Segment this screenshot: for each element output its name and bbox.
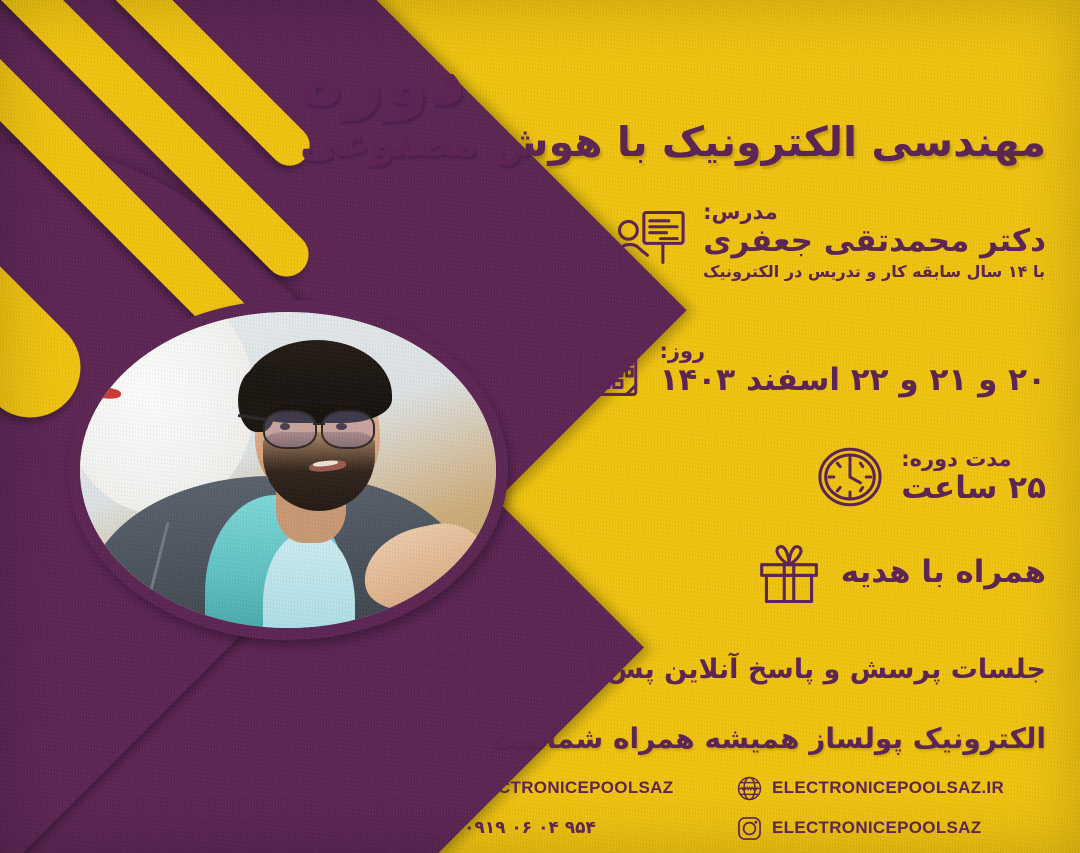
course-poster: دوره مهندسی الکترونیک با هوش مصنوعی مدرس… — [0, 0, 1080, 853]
gift-icon — [751, 535, 827, 611]
instructor-name: دکتر محمدتقی جعفری — [703, 224, 1046, 260]
contact-bar: WWW ELECTRONICEPOOLSAZ.IR ELECTRONICEPOO… — [426, 768, 1046, 848]
instructor-label: مدرس: — [703, 200, 1046, 224]
headline-subtitle: مهندسی الکترونیک با هوش مصنوعی — [300, 121, 1046, 164]
qa-row: جلسات پرسش و پاسخ آنلاین پس از دوره — [411, 632, 1046, 708]
tagline: الکترونیک پولساز همیشه همراه شماست — [489, 722, 1046, 755]
duration-label: مدت دوره: — [901, 447, 1046, 471]
headline-main: دوره — [300, 44, 1046, 115]
contact-phone[interactable]: ۰۹۱۹ ۰۶ ۰۴ ۹۵۴ — [426, 814, 736, 843]
contact-phone-label: ۰۹۱۹ ۰۶ ۰۴ ۹۵۴ — [464, 818, 596, 838]
instructor-row: مدرس: دکتر محمدتقی جعفری با ۱۴ سال سابقه… — [613, 200, 1046, 283]
page-title: دوره مهندسی الکترونیک با هوش مصنوعی — [300, 44, 1046, 164]
telegram-icon — [426, 774, 455, 803]
contact-telegram-label: ELECTRONICEPOOLSAZ — [464, 778, 673, 798]
date-value: ۲۰ و ۲۱ و ۲۲ اسفند ۱۴۰۳ — [659, 363, 1046, 399]
duration-row: مدت دوره: ۲۵ ساعت — [813, 440, 1046, 514]
meeting-checklist-icon — [411, 632, 487, 708]
instructor-photo — [80, 312, 496, 628]
gift-row: همراه با هدیه — [751, 535, 1046, 611]
contact-instagram[interactable]: ELECTRONICEPOOLSAZ — [736, 815, 1046, 842]
phone-icon — [426, 814, 455, 843]
instagram-icon — [736, 815, 763, 842]
date-label: روز: — [659, 339, 1046, 363]
contact-telegram[interactable]: ELECTRONICEPOOLSAZ — [426, 774, 736, 803]
svg-text:WWW: WWW — [741, 786, 758, 792]
duration-value: ۲۵ ساعت — [901, 471, 1046, 507]
teacher-whiteboard-icon — [613, 203, 689, 279]
calendar-icon — [571, 332, 645, 406]
clock-icon — [813, 440, 887, 514]
globe-www-icon: WWW — [736, 775, 763, 802]
instructor-note: با ۱۴ سال سابقه کار و تدریس در الکترونیک — [703, 262, 1046, 283]
contact-instagram-label: ELECTRONICEPOOLSAZ — [772, 818, 981, 838]
contact-website[interactable]: WWW ELECTRONICEPOOLSAZ.IR — [736, 775, 1046, 802]
contact-website-label: ELECTRONICEPOOLSAZ.IR — [772, 778, 1004, 798]
qa-value: جلسات پرسش و پاسخ آنلاین پس از دوره — [501, 654, 1046, 685]
date-row: روز: ۲۰ و ۲۱ و ۲۲ اسفند ۱۴۰۳ — [571, 332, 1046, 406]
gift-value: همراه با هدیه — [841, 555, 1046, 591]
avatar — [68, 300, 508, 640]
